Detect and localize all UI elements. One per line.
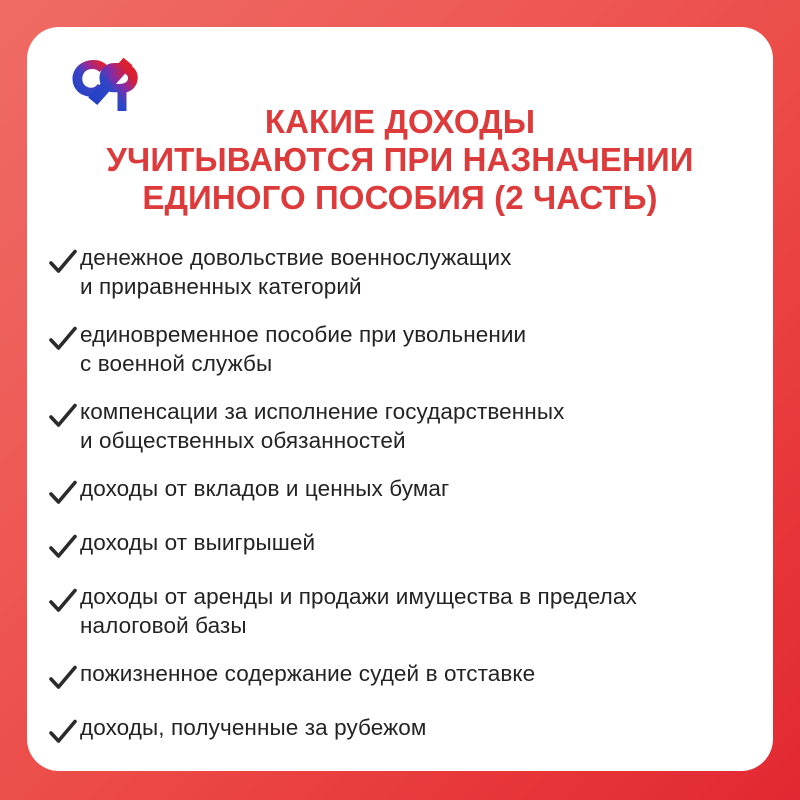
title-line-2: УЧИТЫВАЮТСЯ ПРИ НАЗНАЧЕНИИ xyxy=(65,141,735,179)
page-title: КАКИЕ ДОХОДЫ УЧИТЫВАЮТСЯ ПРИ НАЗНАЧЕНИИ … xyxy=(65,103,735,217)
list-item: компенсации за исполнение государственны… xyxy=(46,397,762,455)
content-card: КАКИЕ ДОХОДЫ УЧИТЫВАЮТСЯ ПРИ НАЗНАЧЕНИИ … xyxy=(27,27,773,771)
list-item-label: доходы, полученные за рубежом xyxy=(80,713,762,742)
list-item-label: пожизненное содержание судей в отставке xyxy=(80,659,762,688)
list-item-label: доходы от аренды и продажи имущества в п… xyxy=(80,582,762,640)
list-item: доходы, полученные за рубежом xyxy=(46,713,762,748)
check-icon xyxy=(46,533,80,563)
list-item: доходы от вкладов и ценных бумаг xyxy=(46,474,762,509)
list-item-label: доходы от вкладов и ценных бумаг xyxy=(80,474,762,503)
check-icon xyxy=(46,248,80,278)
check-icon xyxy=(46,718,80,748)
check-icon xyxy=(46,402,80,432)
list-item-label: денежное довольствие военнослужащих и пр… xyxy=(80,243,762,301)
list-item-label: компенсации за исполнение государственны… xyxy=(80,397,762,455)
check-icon xyxy=(46,325,80,355)
poster-background: КАКИЕ ДОХОДЫ УЧИТЫВАЮТСЯ ПРИ НАЗНАЧЕНИИ … xyxy=(0,0,800,800)
title-line-1: КАКИЕ ДОХОДЫ xyxy=(65,103,735,141)
list-item: доходы от аренды и продажи имущества в п… xyxy=(46,582,762,640)
list-item: пожизненное содержание судей в отставке xyxy=(46,659,762,694)
list-item-label: доходы от выигрышей xyxy=(80,528,762,557)
title-line-3: ЕДИНОГО ПОСОБИЯ (2 ЧАСТЬ) xyxy=(65,179,735,217)
list-item: денежное довольствие военнослужащих и пр… xyxy=(46,243,762,301)
list-item-label: единовременное пособие при увольнении с … xyxy=(80,320,762,378)
check-icon xyxy=(46,479,80,509)
income-list: денежное довольствие военнослужащих и пр… xyxy=(46,243,762,767)
check-icon xyxy=(46,587,80,617)
list-item: доходы от выигрышей xyxy=(46,528,762,563)
check-icon xyxy=(46,664,80,694)
list-item: единовременное пособие при увольнении с … xyxy=(46,320,762,378)
